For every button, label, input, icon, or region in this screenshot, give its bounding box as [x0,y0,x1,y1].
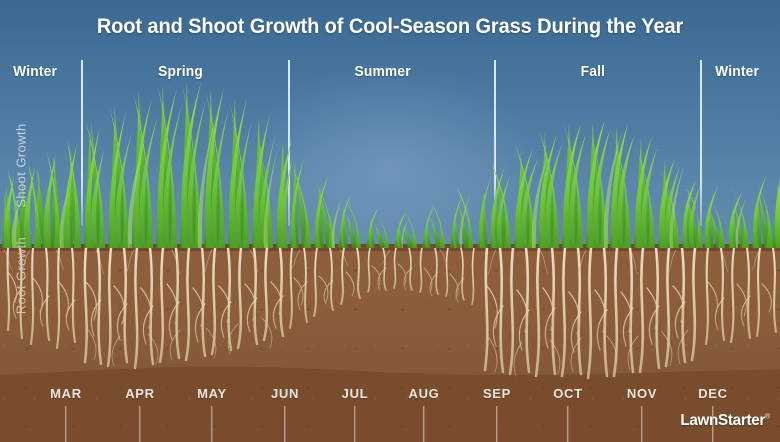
axis-label-root-growth: Root Growth [14,221,29,331]
season-divider-1 [81,60,83,226]
season-label-fall: Fall [581,64,605,80]
month-tick-oct [567,406,568,442]
month-label-aug: AUG [409,386,440,401]
month-tick-jul [354,406,355,442]
lawnstarter-logo[interactable]: LawnStarter® [680,412,769,430]
page-title: Root and Shoot Growth of Cool-Season Gra… [27,14,752,39]
axis-label-shoot-growth: Shoot Growth [14,111,29,221]
infographic-root: Root and Shoot Growth of Cool-Season Gra… [0,0,780,442]
month-label-apr: APR [125,386,155,401]
month-tick-jun [284,406,285,442]
season-label-spring: Spring [158,64,203,80]
season-divider-2 [288,60,290,226]
month-tick-nov [641,406,642,442]
registered-trademark-icon: ® [765,414,770,421]
soil-texture-overlay [0,244,780,442]
logo-wordmark: LawnStarter [680,412,765,429]
season-divider-4 [700,60,702,226]
season-divider-3 [494,60,496,226]
month-tick-sep [496,406,497,442]
month-label-oct: OCT [553,386,583,401]
month-label-jun: JUN [271,386,299,401]
month-tick-aug [423,406,424,442]
season-label-winter-early: Winter [13,64,57,80]
month-label-nov: NOV [627,386,657,401]
month-tick-mar [65,406,66,442]
month-tick-apr [139,406,140,442]
month-label-sep: SEP [483,386,511,401]
month-label-may: MAY [197,386,227,401]
month-tick-may [211,406,212,442]
month-label-mar: MAR [50,386,82,401]
month-label-jul: JUL [342,386,369,401]
season-label-summer: Summer [354,64,410,80]
month-label-dec: DEC [698,386,728,401]
season-label-winter-late: Winter [715,64,759,80]
